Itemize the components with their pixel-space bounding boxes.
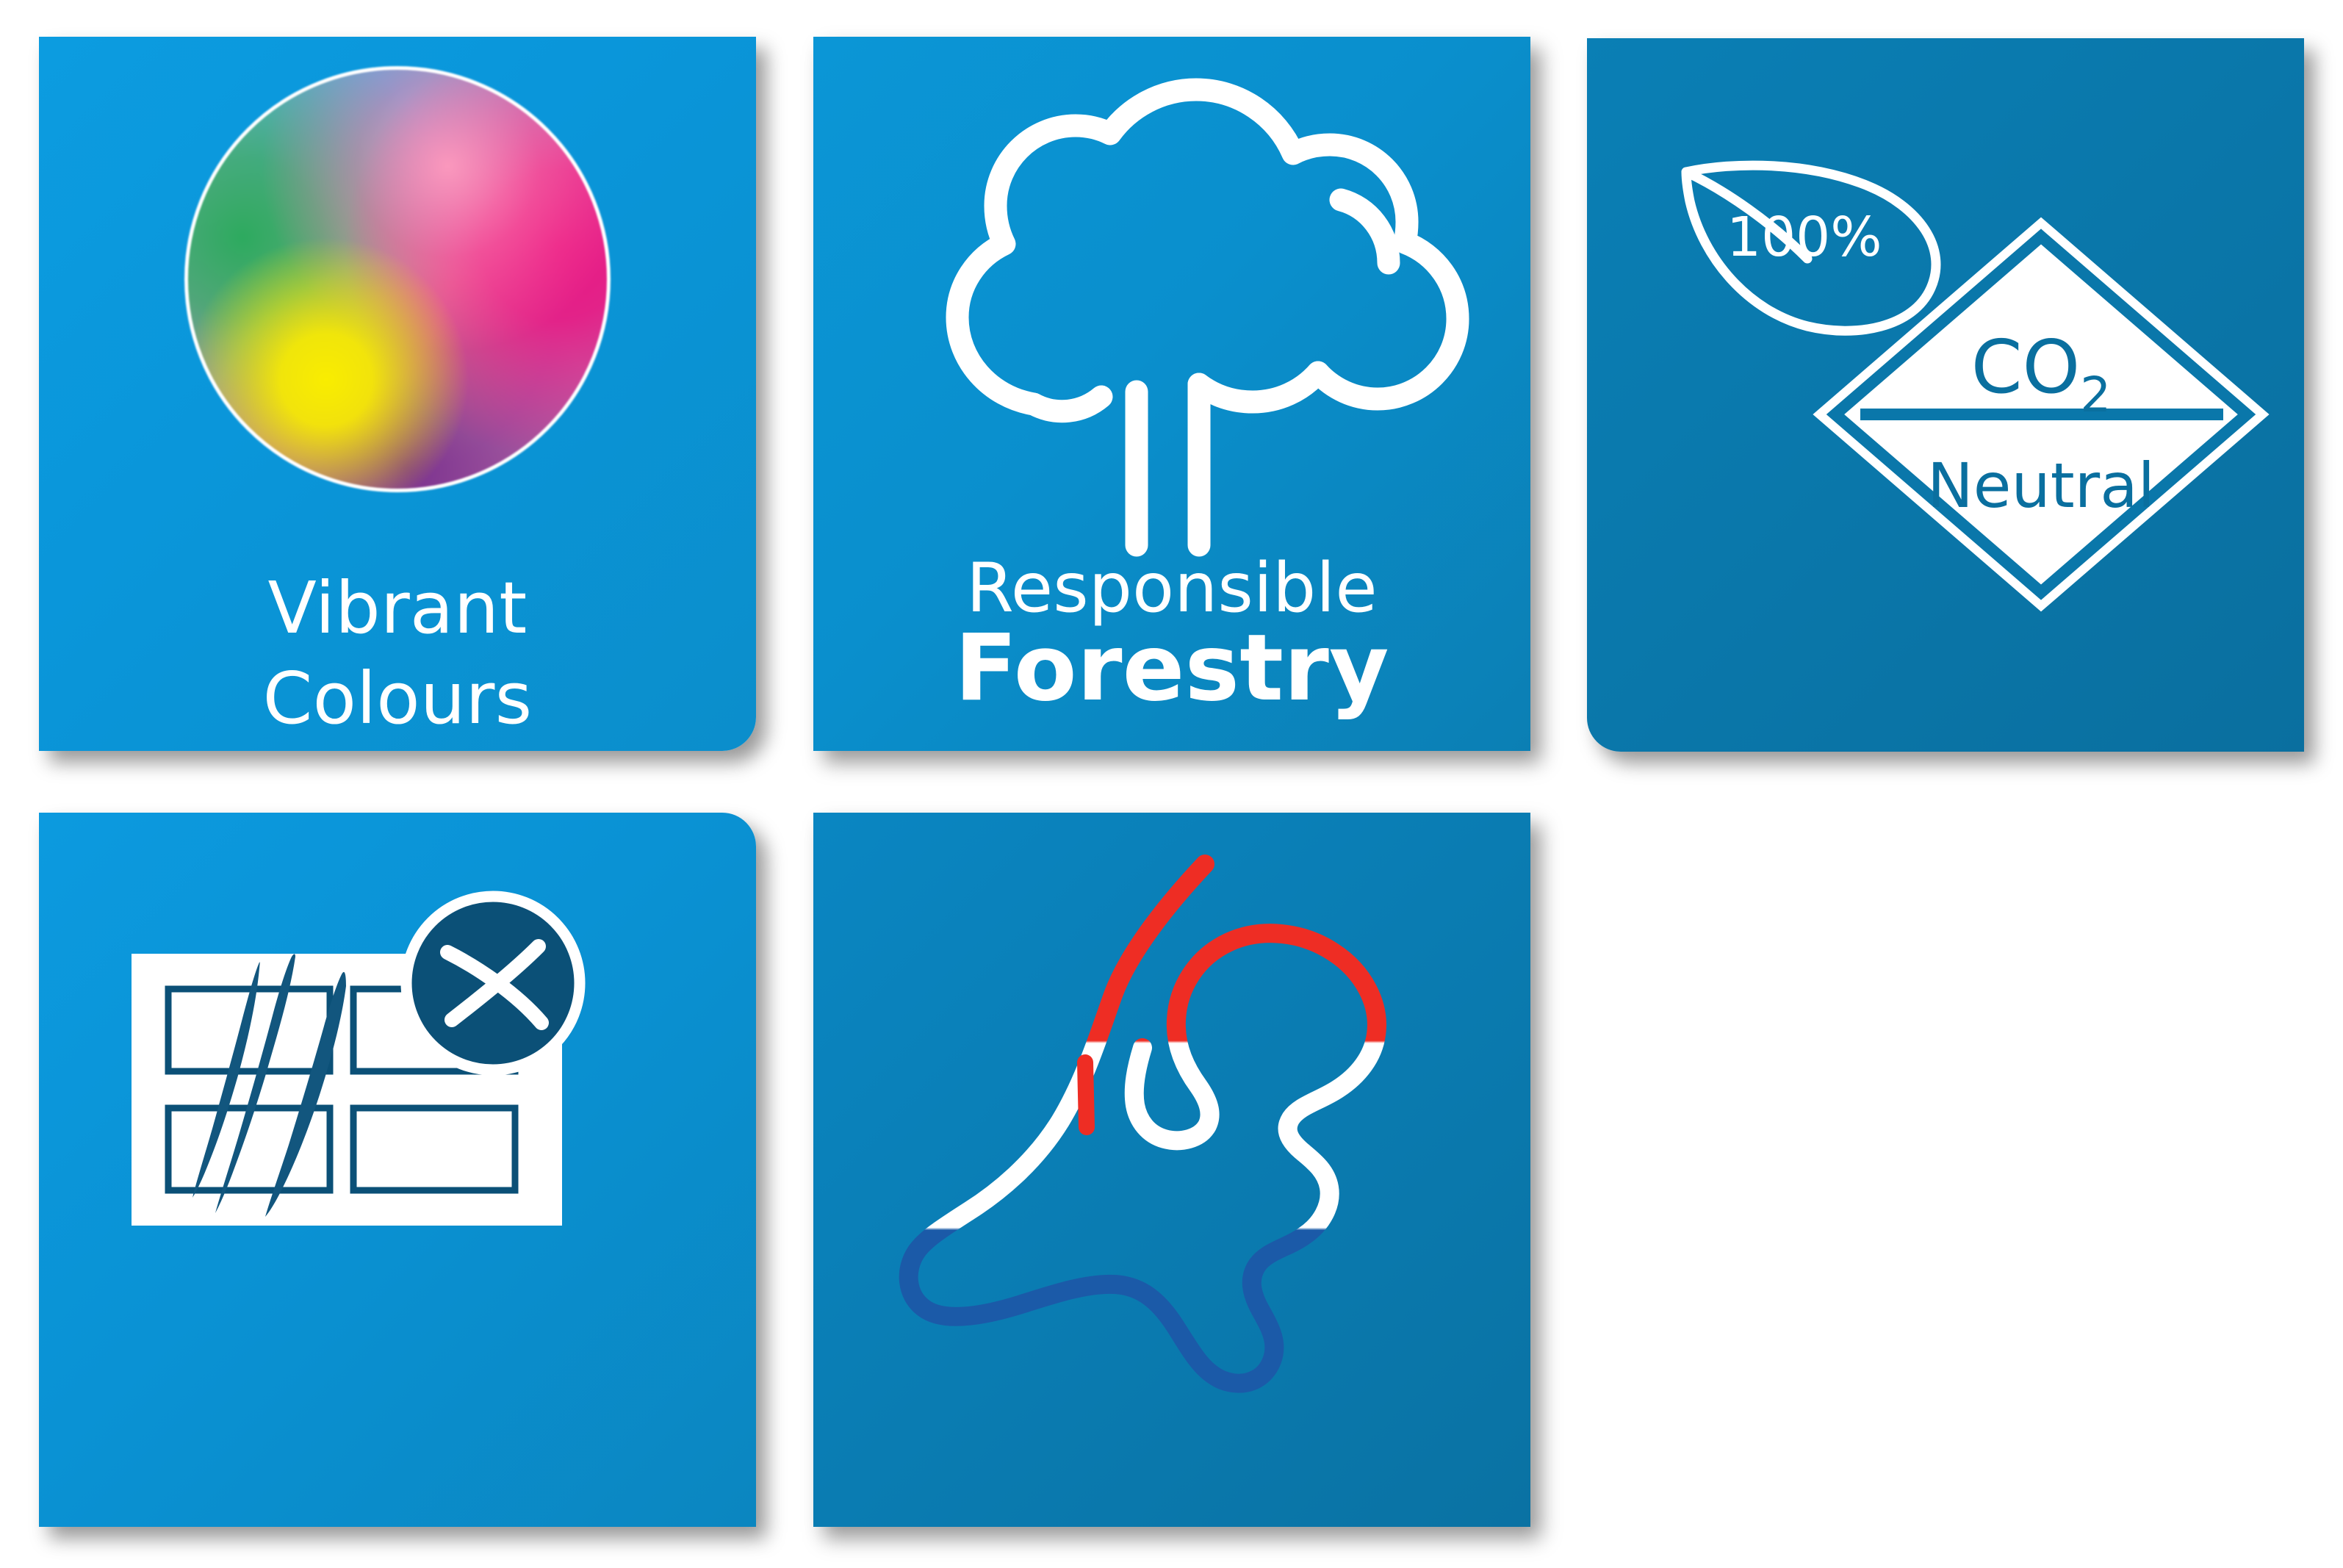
scratched-sheet-icon xyxy=(39,813,756,1527)
diamond-icon xyxy=(1835,237,2247,592)
cross-circle-icon xyxy=(406,896,580,1070)
feature-tile-responsible-forestry[interactable]: Responsible Forestry xyxy=(813,37,1530,751)
feature-tile-dutch-made[interactable]: Dutch-made Premium quality xyxy=(813,813,1530,1527)
caption-line-1: Responsible xyxy=(813,551,1530,625)
caption-line-2: Forestry xyxy=(813,619,1530,718)
feature-tile-scratch-resistant-print[interactable]: Scratch Resistant Print xyxy=(39,813,756,1527)
co2-neutral-leaf-diamond-icon: 100% CO2 Neutral xyxy=(1587,38,2304,752)
tile-forestry-caption: Responsible Forestry xyxy=(813,551,1530,718)
tile-dutch-inner: Dutch-made Premium quality xyxy=(813,813,1530,1527)
tile-vibrant-caption: Vibrant Colours xyxy=(39,570,756,738)
feature-tile-co2-neutral[interactable]: 100% CO2 Neutral xyxy=(1587,38,2304,752)
diamond-bottom-label: Neutral xyxy=(1927,450,2155,522)
caption-line-2: Colours xyxy=(39,661,756,738)
tile-vibrant-inner: Vibrant Colours xyxy=(39,37,756,751)
tile-forestry-inner: Responsible Forestry xyxy=(813,37,1530,751)
feature-tile-vibrant-colours[interactable]: Vibrant Colours xyxy=(39,37,756,751)
nl-outline-path xyxy=(909,864,1377,1384)
netherlands-map-outline-icon xyxy=(813,827,1530,1415)
colour-sphere-icon xyxy=(184,66,611,492)
nl-inner-tick xyxy=(1085,1062,1087,1127)
tile-co2-inner: 100% CO2 Neutral xyxy=(1587,38,2304,752)
caption-line-1: Vibrant xyxy=(39,570,756,647)
leaf-label: 100% xyxy=(1727,206,1882,269)
tree-icon xyxy=(813,51,1530,566)
tile-scratch-inner: Scratch Resistant Print xyxy=(39,813,756,1527)
colour-sphere-gradient xyxy=(184,66,611,492)
